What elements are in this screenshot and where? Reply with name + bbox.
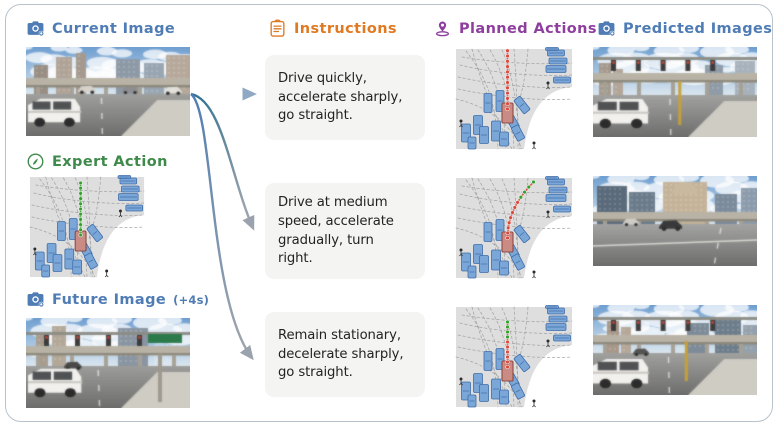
header-label: Predicted Images <box>623 21 772 37</box>
header-label: Current Image <box>52 21 175 37</box>
camera-icon <box>597 19 616 38</box>
instruction-text: Drive quickly, accelerate sharply, go st… <box>278 70 402 126</box>
planned-action-bev-2 <box>452 176 576 280</box>
figure-root: Current Image Instructions Planned Actio… <box>0 0 781 430</box>
header-planned-actions: Planned Actions <box>433 19 597 38</box>
pin-icon <box>433 19 452 38</box>
header-future-image: Future Image (+4s) <box>26 290 209 309</box>
header-label: Planned Actions <box>459 21 597 37</box>
header-label: Expert Action <box>52 154 168 170</box>
future-image-photo <box>26 318 190 408</box>
current-image-photo <box>26 47 190 136</box>
camera-icon <box>26 290 45 309</box>
instruction-text: Remain stationary, decelerate sharply, g… <box>278 327 403 383</box>
predicted-image-3 <box>593 305 757 395</box>
header-predicted-images: Predicted Images <box>597 19 772 38</box>
instruction-bubble-1[interactable]: Drive quickly, accelerate sharply, go st… <box>265 55 425 140</box>
instruction-text: Drive at medium speed, accelerate gradua… <box>278 194 394 269</box>
clipboard-icon <box>268 19 287 38</box>
header-label: Future Image <box>52 292 166 308</box>
predicted-image-2 <box>593 176 757 266</box>
expert-action-bev <box>26 175 148 279</box>
predicted-image-1 <box>593 47 757 137</box>
header-suffix: (+4s) <box>173 293 209 307</box>
header-expert-action: Expert Action <box>26 152 168 171</box>
steering-icon <box>26 152 45 171</box>
header-label: Instructions <box>294 21 397 37</box>
camera-icon <box>26 19 45 38</box>
planned-action-bev-3 <box>452 305 576 409</box>
instruction-bubble-2[interactable]: Drive at medium speed, accelerate gradua… <box>265 183 425 279</box>
header-instructions: Instructions <box>268 19 397 38</box>
instruction-bubble-3[interactable]: Remain stationary, decelerate sharply, g… <box>265 312 425 397</box>
header-current-image: Current Image <box>26 19 175 38</box>
planned-action-bev-1 <box>452 47 576 151</box>
